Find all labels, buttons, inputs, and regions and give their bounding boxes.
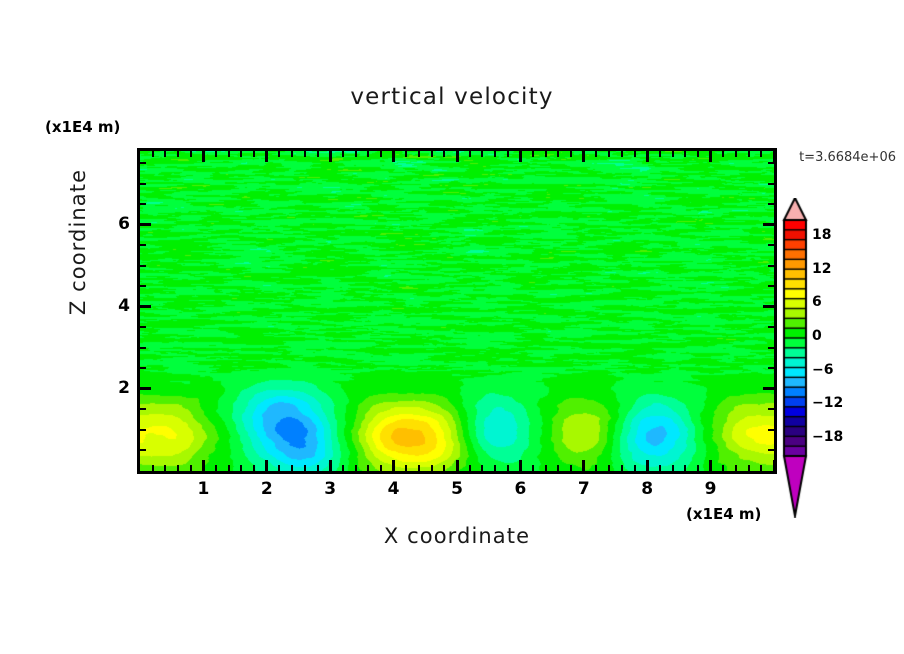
y-tick-label: 2 — [104, 378, 130, 398]
x-tick-label: 2 — [247, 479, 287, 499]
x-tick-label: 8 — [627, 479, 667, 499]
x-tick-label: 1 — [183, 479, 223, 499]
x-tick-label: 4 — [374, 479, 414, 499]
y-tick-label: 6 — [104, 214, 130, 234]
x-axis-unit-label: (x1E4 m) — [686, 505, 761, 523]
x-axis-title: X coordinate — [137, 524, 777, 548]
contour-field — [140, 151, 774, 471]
page-title: vertical velocity — [0, 84, 904, 110]
x-tick-label: 6 — [500, 479, 540, 499]
y-tick-label: 4 — [104, 296, 130, 316]
colorbar — [780, 198, 840, 518]
colorbar-tick-label: 0 — [812, 328, 822, 344]
x-tick-label: 7 — [564, 479, 604, 499]
x-tick-label: 9 — [691, 479, 731, 499]
x-tick-label: 3 — [310, 479, 350, 499]
timestamp-annotation: t=3.6684e+06 — [799, 150, 896, 165]
colorbar-tick-label: 12 — [812, 261, 831, 277]
x-tick-label: 5 — [437, 479, 477, 499]
y-axis-unit-label: (x1E4 m) — [45, 118, 120, 136]
colorbar-tick-label: −18 — [812, 429, 843, 445]
colorbar-tick-label: −12 — [812, 395, 843, 411]
colorbar-tick-label: −6 — [812, 362, 833, 378]
colorbar-tick-label: 18 — [812, 227, 831, 243]
colorbar-tick-label: 6 — [812, 294, 822, 310]
y-axis-title: Z coordinate — [66, 142, 90, 342]
